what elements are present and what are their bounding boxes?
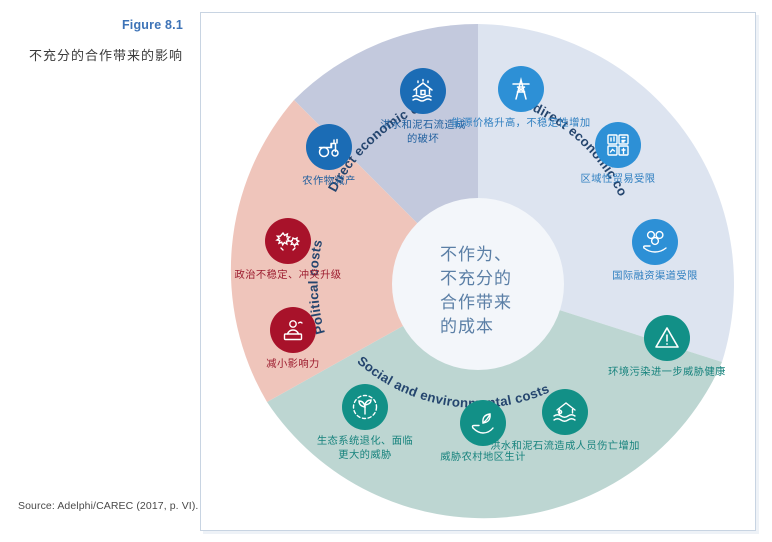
node-label: 减小影响力 [198,358,388,372]
node-regional-trade[interactable]: 区域性贸易受限 [523,122,713,187]
node-label: 农作物减产 [234,175,424,189]
figure-number: Figure 8.1 [0,18,183,32]
center-line-4: 的成本 [440,317,494,336]
hand-leaf-icon [460,400,506,446]
node-pollution-health[interactable]: 环境污染进一步威胁健康 [572,315,762,380]
node-ecosystem-degrade[interactable]: 生态系统退化、面临 更大的威胁 [270,384,460,463]
node-intl-finance[interactable]: 国际融资渠道受限 [560,219,750,284]
figure-root: Figure 8.1 不充分的合作带来的影响 Source: Adelphi/C… [0,0,772,542]
power-pylon-icon [498,66,544,112]
tractor-icon [306,124,352,170]
node-political-conflict[interactable]: 政治不稳定、冲突升级 [193,218,383,283]
center-line-3: 合作带来 [440,293,512,312]
node-label: 国际融资渠道受限 [560,270,750,284]
node-crop-loss[interactable]: 农作物减产 [234,124,424,189]
center-line-1: 不作为、 [440,245,512,264]
figure-title: 不充分的合作带来的影响 [0,46,183,66]
trade-grid-icon [595,122,641,168]
node-label: 生态系统退化、面临 更大的威胁 [270,435,460,463]
source-note: Source: Adelphi/CAREC (2017, p. VI). [18,500,198,512]
hand-coins-icon [632,219,678,265]
node-label: 环境污染进一步威胁健康 [572,366,762,380]
warning-icon [644,315,690,361]
node-label: 区域性贸易受限 [523,173,713,187]
conflict-gears-icon [265,218,311,264]
center-line-2: 不充分的 [440,269,512,288]
leaf-circle-icon [342,384,388,430]
speaker-person-icon [270,307,316,353]
node-reduced-influence[interactable]: 减小影响力 [198,307,388,372]
node-label: 政治不稳定、冲突升级 [193,269,383,283]
